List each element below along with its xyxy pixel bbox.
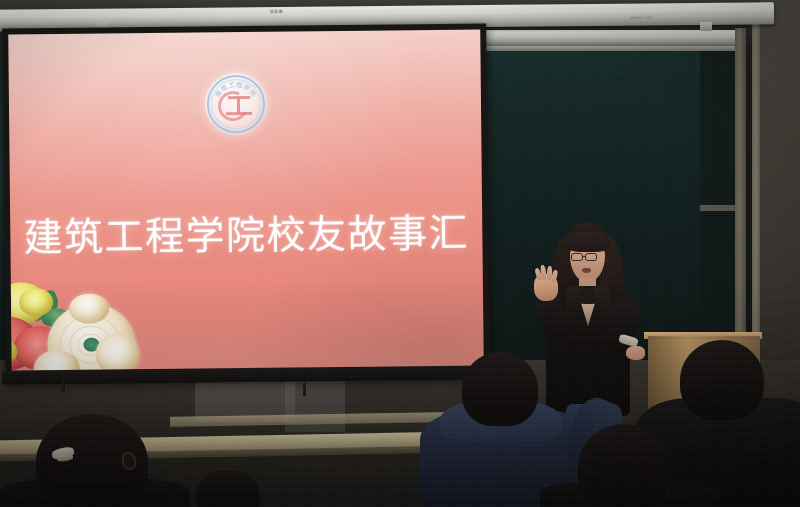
- audience-member-right-head: [680, 340, 764, 420]
- presenter-hand-on-podium: [626, 346, 645, 360]
- screen-housing-brand-text: 投影幕: [270, 9, 283, 15]
- presenter-bangs: [565, 232, 611, 252]
- presenter-glasses-left-lens: [571, 253, 583, 261]
- chalkboard-right-panel: [700, 33, 736, 358]
- screen-housing-model-text: MODEL-100: [630, 16, 652, 20]
- slide-title: 建筑工程学院校友故事汇: [10, 215, 482, 259]
- presenter-mouth: [582, 268, 591, 273]
- emblem-gong-stroke-bottom: [226, 112, 252, 115]
- screen-foot-left: [62, 380, 65, 393]
- presenter-glasses-bridge: [583, 256, 586, 257]
- right-wall: [760, 0, 800, 400]
- screen-bracket-right: [700, 22, 712, 31]
- flower-bloom-white: [95, 333, 139, 372]
- board-frame-post: [735, 28, 746, 363]
- presentation-slide: 建筑工程学院 建筑工程学院校友故事汇: [8, 30, 484, 373]
- presenter-glasses-right-lens: [585, 253, 597, 261]
- chalkboard-rail-shadow: [455, 46, 740, 51]
- emblem-c-curve-icon: [214, 87, 252, 125]
- lecture-hall-scene: 投影幕 MODEL-100 建筑工程学院 建筑工程学院校友故事汇: [0, 0, 800, 507]
- audience-member-hooded-head: [462, 352, 538, 426]
- chalkboard-divider: [700, 205, 736, 211]
- emblem-gong-stroke-mid: [237, 98, 240, 113]
- audience-member-center-head: [578, 424, 670, 507]
- peony-flower-decoration: [8, 281, 179, 373]
- screen-foot-right: [303, 383, 306, 396]
- university-emblem-logo: 建筑工程学院: [205, 73, 268, 136]
- chalkboard-rail: [455, 30, 740, 46]
- emblem-gong-mark-icon: [217, 91, 255, 121]
